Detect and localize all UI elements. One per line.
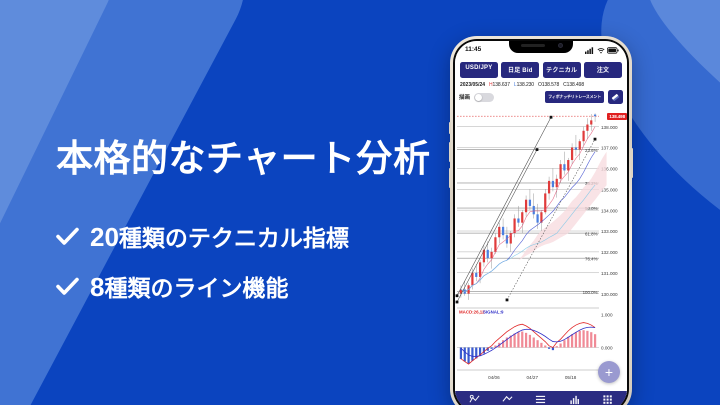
svg-text:23.6%: 23.6% <box>585 148 598 153</box>
eraser-icon[interactable] <box>608 90 623 104</box>
feature-list: 20種類のテクニカル指標 8種類のライン機能 <box>56 219 436 303</box>
svg-text:133.000: 133.000 <box>601 229 618 234</box>
feature-text: 種類のテクニカル指標 <box>119 225 349 251</box>
draw-mode-label: 描画 <box>459 93 470 101</box>
cellular-signal-icon <box>585 41 594 59</box>
svg-text:61.8%: 61.8% <box>585 231 598 236</box>
phone-notch <box>509 41 573 53</box>
news-icon[interactable] <box>569 392 580 405</box>
check-icon <box>56 225 79 248</box>
ohlc-date-label: 2023/05/24 <box>460 82 485 88</box>
phone-volume-up-button <box>449 142 451 162</box>
toggle-knob <box>475 94 482 101</box>
phone-power-button <box>631 148 633 178</box>
ohlc-open-value: 138.578 <box>542 82 559 88</box>
phone-mockup: 11:45 <box>450 36 632 405</box>
svg-text:05/18: 05/18 <box>565 375 577 380</box>
svg-text:134.000: 134.000 <box>601 208 618 213</box>
phone-bezel: 11:45 <box>453 39 629 405</box>
svg-text:130.000: 130.000 <box>601 292 618 297</box>
drawing-toolbar: 描画 フィボナッチリトレースメント <box>455 89 627 106</box>
status-bar-time: 11:45 <box>463 46 481 53</box>
speaker-grille <box>521 44 545 47</box>
fibonacci-retracement-button[interactable]: フィボナッチリトレースメント <box>545 91 604 103</box>
check-icon <box>56 275 79 298</box>
nav-button-timeframe[interactable]: 日足 Bid <box>501 62 539 79</box>
ohlc-low-value: 138.230 <box>517 82 534 88</box>
app-screen: 11:45 <box>455 41 627 405</box>
price-chart[interactable]: 138.000137.000136.000135.000134.000133.0… <box>455 106 627 396</box>
promo-banner: 本格的なチャート分析 20種類のテクニカル指標 8種類のライン機能 <box>0 0 720 405</box>
chart-container[interactable]: 138.000137.000136.000135.000134.000133.0… <box>455 106 627 396</box>
svg-text:0.000: 0.000 <box>601 346 613 351</box>
top-nav-bar: USD/JPY 日足 Bid テクニカル 注文 <box>455 58 627 81</box>
nav-button-symbol[interactable]: USD/JPY <box>460 62 498 79</box>
svg-text:100.0%: 100.0% <box>583 290 598 295</box>
svg-text:SIGNAL:9: SIGNAL:9 <box>483 310 504 315</box>
nav-button-order[interactable]: 注文 <box>584 62 622 79</box>
feature-count: 20 <box>90 222 119 252</box>
phone-volume-down-button <box>449 168 451 188</box>
list-item: 8種類のライン機能 <box>56 269 436 303</box>
status-bar: 11:45 <box>455 41 627 58</box>
bottom-nav-bar <box>455 391 627 405</box>
draw-mode-toggle[interactable] <box>474 93 494 102</box>
svg-text:138.000: 138.000 <box>601 125 618 130</box>
svg-text:132.000: 132.000 <box>601 250 618 255</box>
list-item-label: 8種類のライン機能 <box>90 269 288 303</box>
phone-mute-switch <box>449 122 451 134</box>
feature-text: 種類のライン機能 <box>104 275 288 301</box>
feature-count: 8 <box>90 272 104 302</box>
add-button[interactable]: + <box>598 361 620 383</box>
svg-text:76.4%: 76.4% <box>585 256 598 261</box>
svg-text:MACD:26,12: MACD:26,12 <box>459 310 485 315</box>
list-icon[interactable] <box>535 392 546 405</box>
front-camera <box>558 43 563 48</box>
list-item-label: 20種類のテクニカル指標 <box>90 219 349 253</box>
page-title: 本格的なチャート分析 <box>56 140 436 177</box>
svg-text:04/06: 04/06 <box>488 375 500 380</box>
svg-text:131.000: 131.000 <box>601 271 618 276</box>
menu-grid-icon[interactable] <box>602 392 613 405</box>
nav-button-technical[interactable]: テクニカル <box>543 62 581 79</box>
svg-text:04/27: 04/27 <box>527 375 539 380</box>
ohlc-readout: 2023/05/24 H138.637 L138.230 O138.578 C1… <box>455 81 627 89</box>
svg-text:137.000: 137.000 <box>601 146 618 151</box>
current-price-badge: 138.498 <box>607 113 627 120</box>
ohlc-high-value: 138.637 <box>493 82 510 88</box>
wifi-icon <box>597 41 605 59</box>
promo-copy: 本格的なチャート分析 20種類のテクニカル指標 8種類のライン機能 <box>56 140 436 319</box>
chart-icon[interactable] <box>502 392 513 405</box>
svg-text:1.000: 1.000 <box>601 313 613 318</box>
battery-icon <box>607 41 619 59</box>
ohlc-close-value: 138.498 <box>567 82 584 88</box>
list-item: 20種類のテクニカル指標 <box>56 219 436 253</box>
rate-icon[interactable] <box>469 392 480 405</box>
status-bar-icons <box>585 41 619 59</box>
